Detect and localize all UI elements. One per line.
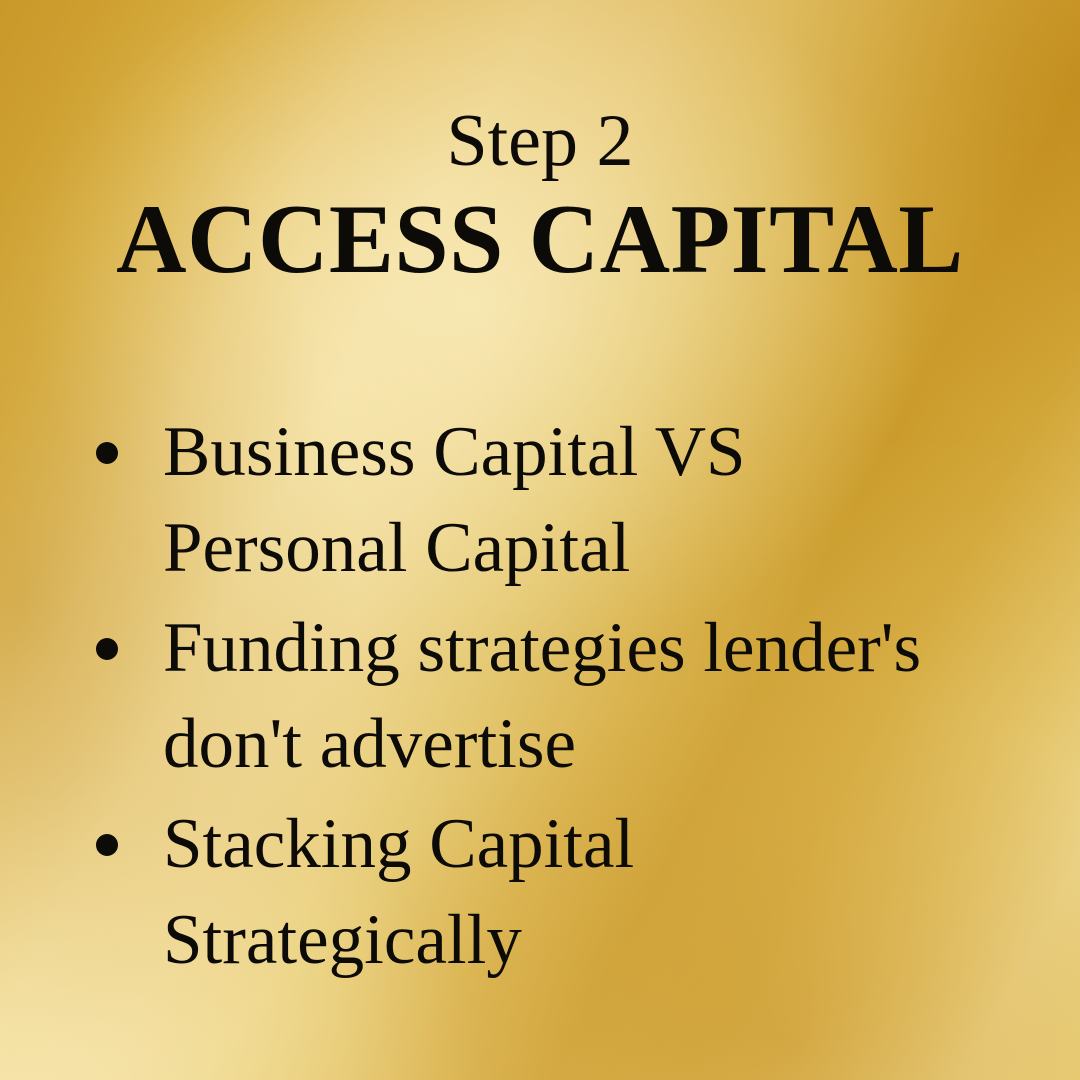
page-title: ACCESS CAPITAL — [8, 190, 1072, 289]
bullet-dot-icon — [96, 638, 118, 660]
list-item: Stacking Capital Strategically — [96, 796, 1030, 988]
bullet-dot-icon — [96, 834, 118, 856]
poster-canvas: Step 2 ACCESS CAPITAL Business Capital V… — [0, 0, 1080, 1080]
list-item-label: Funding strategies lender's don't advert… — [163, 600, 993, 792]
poster-header: Step 2 ACCESS CAPITAL — [0, 0, 1080, 289]
bullet-list: Business Capital VS Personal Capital Fun… — [96, 404, 1030, 992]
poster-content: Step 2 ACCESS CAPITAL Business Capital V… — [0, 0, 1080, 1080]
list-item: Funding strategies lender's don't advert… — [96, 600, 1030, 792]
list-item: Business Capital VS Personal Capital — [96, 404, 1030, 596]
bullet-dot-icon — [96, 442, 118, 464]
step-label: Step 2 — [0, 104, 1080, 178]
list-item-label: Stacking Capital Strategically — [163, 796, 993, 988]
list-item-label: Business Capital VS Personal Capital — [163, 404, 993, 596]
